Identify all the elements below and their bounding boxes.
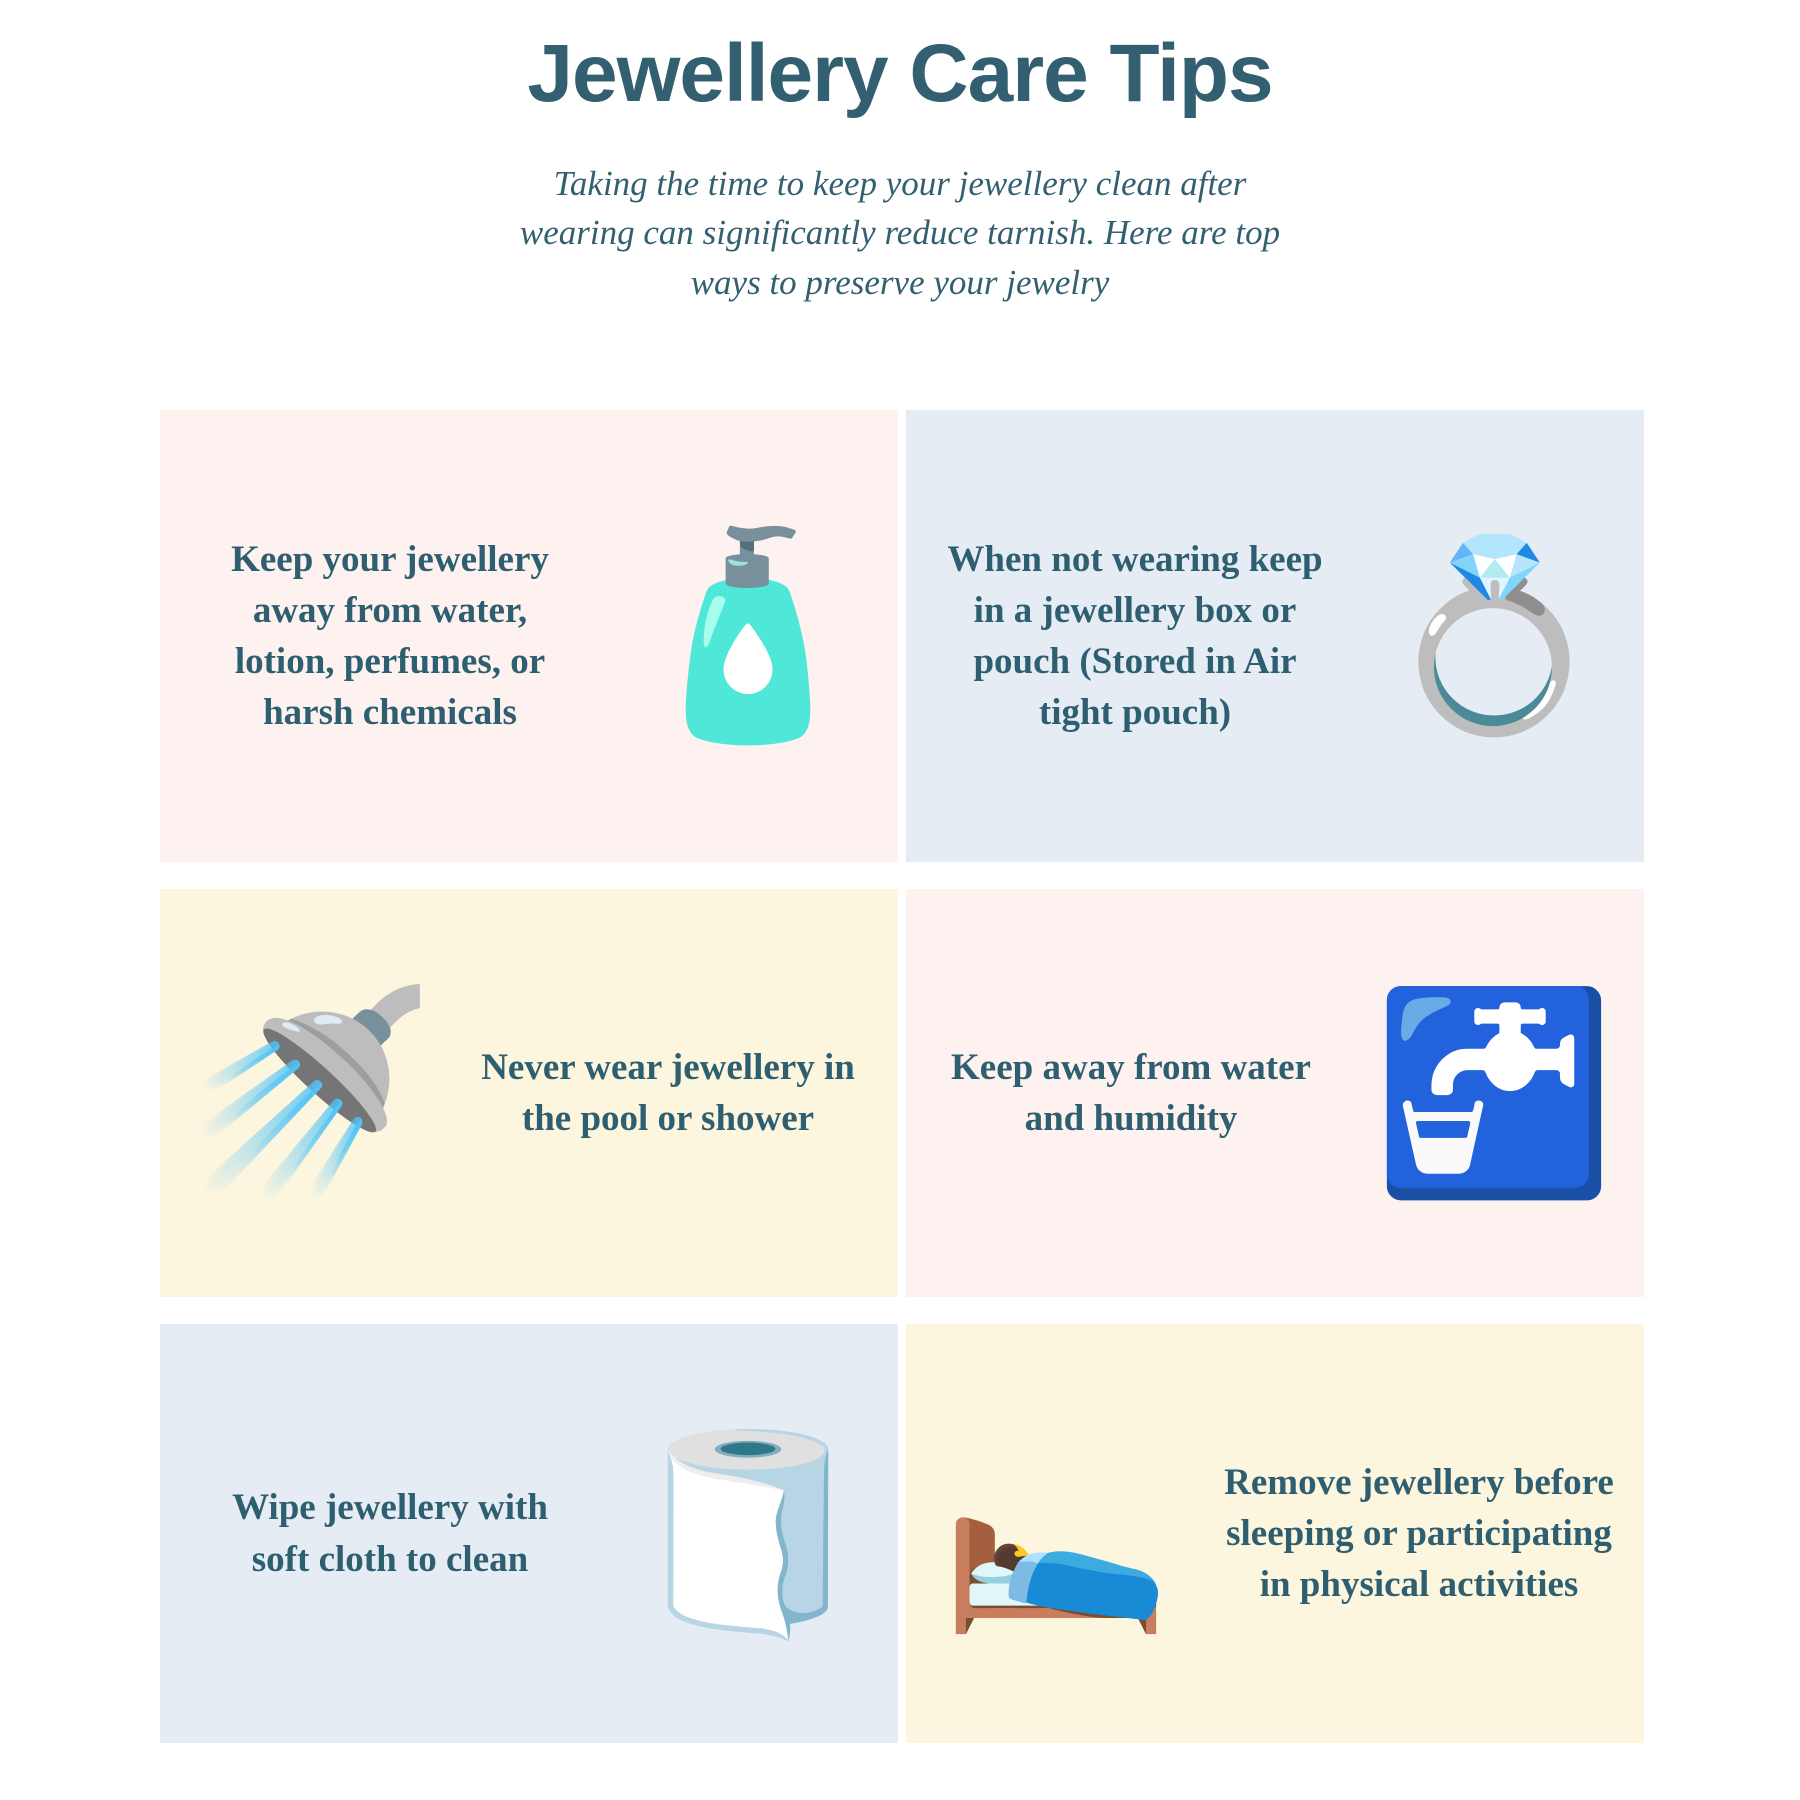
- tip-card-1: Keep your jewellery away from water, lot…: [160, 410, 898, 862]
- tip-card-6: Remove jewellery before sleeping or part…: [906, 1324, 1644, 1743]
- tip-card-1-text: Keep your jewellery away from water, lot…: [160, 534, 598, 738]
- tip-card-4-text: Keep away from water and humidity: [906, 1042, 1344, 1144]
- dripping-faucet-icon: 🚰: [1344, 996, 1644, 1191]
- tip-card-5: Wipe jewellery with soft cloth to clean …: [160, 1324, 898, 1743]
- tips-grid: Keep your jewellery away from water, lot…: [160, 410, 1640, 1743]
- tip-card-5-text: Wipe jewellery with soft cloth to clean: [160, 1482, 598, 1584]
- sleeping-bed-icon: 🛌: [906, 1441, 1206, 1626]
- infographic-page: Jewellery Care Tips Taking the time to k…: [0, 0, 1800, 1800]
- ring-box-icon: 💍: [1344, 544, 1644, 729]
- page-subtitle: Taking the time to keep your jewellery c…: [505, 119, 1295, 308]
- page-title: Jewellery Care Tips: [0, 0, 1800, 119]
- tip-card-3-text: Never wear jewellery in the pool or show…: [460, 1042, 898, 1144]
- tip-card-3: Never wear jewellery in the pool or show…: [160, 889, 898, 1297]
- tip-card-2: When not wearing keep in a jewellery box…: [906, 410, 1644, 862]
- soft-cloth-icon: 🧻: [598, 1436, 898, 1631]
- perfume-bottle-icon: 🧴: [598, 536, 898, 736]
- shower-head-icon: 🚿: [160, 993, 460, 1193]
- header: Jewellery Care Tips Taking the time to k…: [0, 0, 1800, 308]
- tip-card-2-text: When not wearing keep in a jewellery box…: [906, 534, 1344, 738]
- tip-card-4: Keep away from water and humidity 🚰: [906, 889, 1644, 1297]
- tip-card-6-text: Remove jewellery before sleeping or part…: [1206, 1457, 1644, 1610]
